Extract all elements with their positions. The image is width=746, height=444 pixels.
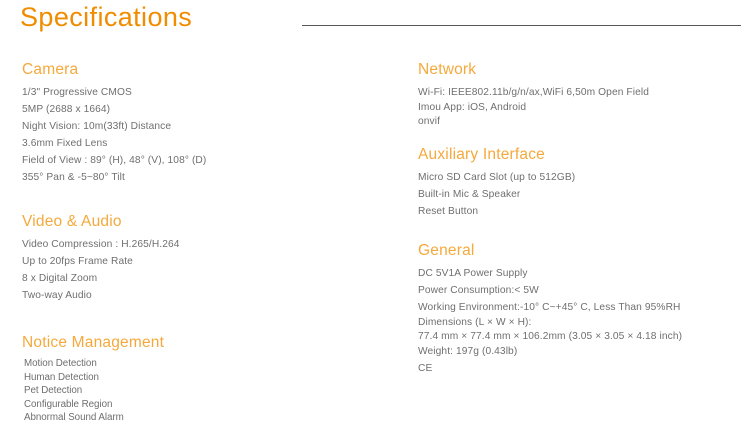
spec-line: Power Consumption:< 5W bbox=[418, 282, 738, 299]
left-column: Camera 1/3" Progressive CMOS 5MP (2688 x… bbox=[22, 60, 352, 425]
spec-line: 355° Pan & -5~80° Tilt bbox=[22, 169, 352, 186]
spec-line: 1/3" Progressive CMOS bbox=[22, 84, 352, 101]
spec-line: Pet Detection bbox=[24, 384, 352, 398]
spec-line: Reset Button bbox=[418, 203, 738, 220]
spec-line: Configurable Region bbox=[24, 398, 352, 412]
spec-line: Human Detection bbox=[24, 371, 352, 385]
spec-line: 3.6mm Fixed Lens bbox=[22, 135, 352, 152]
header-divider bbox=[302, 25, 741, 26]
spec-line: Abnormal Sound Alarm bbox=[24, 411, 352, 425]
spec-line: Micro SD Card Slot (up to 512GB) bbox=[418, 169, 738, 186]
section-heading-network: Network bbox=[418, 60, 738, 79]
section-general: General DC 5V1A Power Supply Power Consu… bbox=[418, 241, 738, 377]
spec-line: Motion Detection bbox=[24, 357, 352, 371]
spec-line: 77.4 mm × 77.4 mm × 106.2mm (3.05 × 3.05… bbox=[418, 330, 738, 344]
spec-line: Built-in Mic & Speaker bbox=[418, 186, 738, 203]
section-heading-notice-management: Notice Management bbox=[22, 333, 352, 352]
spec-line: Night Vision: 10m(33ft) Distance bbox=[22, 118, 352, 135]
spec-line: CE bbox=[418, 360, 738, 377]
section-network: Network Wi-Fi: IEEE802.11b/g/n/ax,WiFi 6… bbox=[418, 60, 738, 128]
section-auxiliary-interface: Auxiliary Interface Micro SD Card Slot (… bbox=[418, 145, 738, 220]
page-title: Specifications bbox=[20, 2, 192, 33]
spec-line: Wi-Fi: IEEE802.11b/g/n/ax,WiFi 6,50m Ope… bbox=[418, 84, 738, 101]
section-notice-management: Notice Management Motion Detection Human… bbox=[22, 333, 352, 425]
section-camera: Camera 1/3" Progressive CMOS 5MP (2688 x… bbox=[22, 60, 352, 186]
section-heading-general: General bbox=[418, 241, 738, 260]
spec-line: Weight: 197g (0.43lb) bbox=[418, 343, 738, 360]
spec-line: DC 5V1A Power Supply bbox=[418, 265, 738, 282]
right-column: Network Wi-Fi: IEEE802.11b/g/n/ax,WiFi 6… bbox=[418, 60, 738, 377]
spec-line: Dimensions (L × W × H): bbox=[418, 316, 738, 330]
spec-line: 8 x Digital Zoom bbox=[22, 270, 352, 287]
spec-line: 5MP (2688 x 1664) bbox=[22, 101, 352, 118]
section-heading-video-audio: Video & Audio bbox=[22, 212, 352, 231]
spec-line: Field of View : 89° (H), 48° (V), 108° (… bbox=[22, 152, 352, 169]
spec-line: Working Environment:-10° C~+45° C, Less … bbox=[418, 299, 738, 316]
spec-line: Two-way Audio bbox=[22, 287, 352, 304]
spec-line: Imou App: iOS, Android bbox=[418, 101, 738, 115]
section-heading-auxiliary-interface: Auxiliary Interface bbox=[418, 145, 738, 164]
section-heading-camera: Camera bbox=[22, 60, 352, 79]
spec-line: onvif bbox=[418, 115, 738, 129]
spec-line: Up to 20fps Frame Rate bbox=[22, 253, 352, 270]
section-video-audio: Video & Audio Video Compression : H.265/… bbox=[22, 212, 352, 304]
spec-line: Video Compression : H.265/H.264 bbox=[22, 236, 352, 253]
